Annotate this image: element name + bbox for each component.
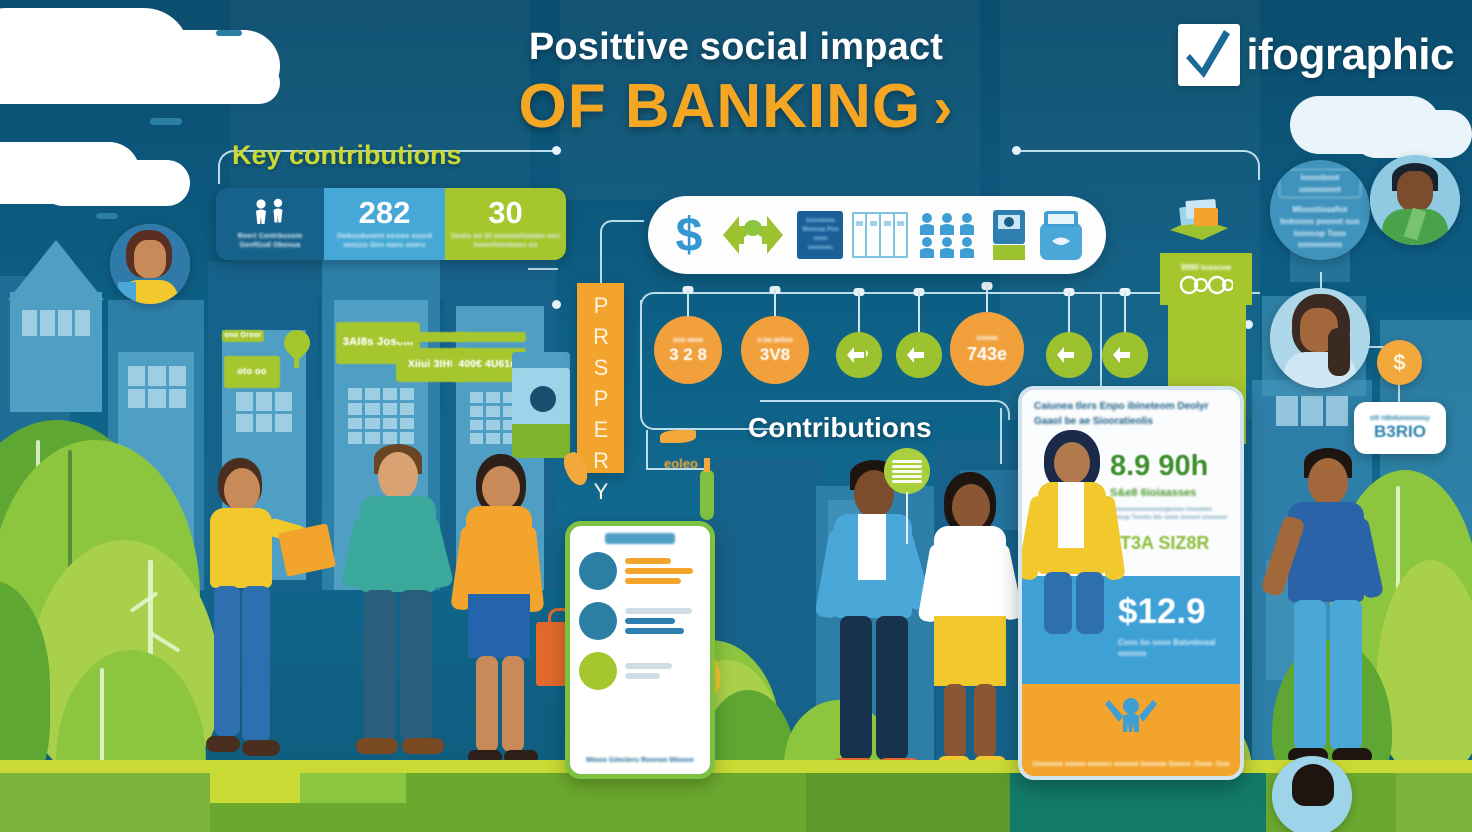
bubble-text: Ioeooboot uoooooont Mloootioaafiot boboo… — [1270, 169, 1370, 251]
dollar-coin-icon[interactable]: $ — [1377, 340, 1422, 385]
shirt — [858, 514, 886, 580]
prosperity-vertical-bar: PRSPERY — [577, 283, 624, 473]
skirt — [934, 616, 1006, 686]
connector-line — [1016, 150, 1260, 180]
exchange-hands-icon — [906, 346, 932, 364]
callout-badge[interactable]: ott rdbdueoooouy B3RIO — [1354, 402, 1446, 454]
text-lines — [625, 663, 701, 679]
svg-text:$: $ — [676, 209, 703, 261]
ground-patch — [210, 773, 300, 803]
infographic-canvas: oto oo ono Oroor 3AI8s Joscm Xiiui 3IH0 … — [0, 0, 1472, 832]
cloud — [40, 160, 190, 206]
leaf-tag-icon — [660, 430, 696, 443]
badge-stem — [687, 290, 689, 316]
ground-patch — [0, 773, 210, 832]
ground-patch — [300, 773, 406, 803]
window-grid — [348, 388, 414, 444]
money-sub-label: Coos bo sooe Batvebvaal ooooss — [1118, 638, 1232, 660]
person-illustration — [196, 450, 306, 790]
brand-name: ifographic — [1246, 30, 1454, 80]
money-stack-icon — [1168, 196, 1230, 242]
badge-value: 3V8 — [760, 346, 790, 363]
cloud-small — [216, 30, 242, 36]
ground-patch — [1010, 773, 1266, 832]
badge-stem — [1068, 292, 1070, 332]
badge-stem — [774, 290, 776, 316]
card-headline: Caiunea tlers Enpo ibineteom Deolyr Gaao… — [1034, 400, 1230, 429]
avatar-woman-teal[interactable] — [1270, 288, 1370, 388]
prosperity-label: PRSPERY — [591, 293, 609, 510]
cloud-small — [96, 213, 118, 219]
bottle-icon — [700, 470, 714, 520]
card-caption: Snooeenu Woooaa Poo uoeu aooooeu — [797, 217, 843, 253]
cloud — [0, 62, 280, 104]
badge-value: 743e — [967, 345, 1007, 363]
contributions-heading: Contributions — [748, 412, 932, 444]
card-title-bar — [605, 533, 675, 544]
ground-patch — [806, 773, 1010, 832]
bottle-neck — [704, 458, 710, 472]
stat-card-people[interactable]: Reert Contrbusom GenfGud Obosua — [216, 188, 324, 260]
bubble-tail — [906, 492, 908, 544]
orange-tag: eoleo — [664, 456, 698, 471]
badge-stem — [858, 292, 860, 332]
avatar-man-green-shirt[interactable] — [1370, 155, 1460, 245]
badge-stem — [918, 292, 920, 332]
connector-line — [646, 430, 648, 470]
ground-strip — [0, 760, 1472, 773]
cloud-small — [150, 118, 182, 125]
network-nodes-icon — [579, 552, 617, 590]
bubble-body: Mloootioaafiot bobooos poovot ouo Ioovoo… — [1280, 205, 1360, 249]
stat-card-30[interactable]: 30 Uosts oo bt oosowelsoobo oes foeenfoo… — [445, 188, 566, 260]
city-label: ono Oroor — [222, 330, 264, 342]
skirt — [468, 594, 530, 658]
bubble-text-lines — [892, 460, 922, 483]
badge-label: oso oeee — [673, 337, 703, 345]
check-mark-logo-icon — [1178, 24, 1240, 86]
connector-line — [600, 220, 644, 284]
ground-patch — [406, 773, 806, 832]
stat-caption: Reert Contrbusom GenfGud Obosua — [221, 233, 319, 251]
atm-top — [512, 352, 570, 368]
ground-patch — [210, 803, 406, 832]
atm-machine-icon[interactable] — [989, 209, 1029, 261]
window-grid — [1276, 396, 1348, 426]
city-label — [452, 332, 526, 342]
exchange-hands-icon — [1112, 346, 1138, 364]
person-illustration — [452, 452, 572, 792]
card-bottom-note: Ooooeoo ooeoo eooees ooeeoo booooo Soooo… — [1032, 760, 1230, 770]
stat-sub-label: S&e8 6ioiaasses — [1110, 487, 1230, 499]
stat-value: 282 — [359, 197, 411, 228]
avatar-man-blue-shirt[interactable] — [1272, 756, 1352, 832]
badge-circle[interactable]: o.ba aofun 3V8 — [741, 316, 809, 384]
payment-terminal-icon[interactable] — [1038, 209, 1084, 261]
key-contributions-panel: Key contributions Reert Contrbusom GenfG… — [216, 140, 566, 260]
people-group-icon[interactable] — [917, 211, 981, 259]
card-footer-text: Mlooo Gilecteru Roonoo Mloooe — [570, 756, 710, 765]
stat-note: Ooooovooooooooogoooo Ooooeeo ooloop Tooo… — [1110, 506, 1230, 523]
callout-top-line: ott rdbdueoooouy — [1370, 415, 1430, 422]
badge-label: ooooo — [976, 335, 997, 343]
badge-circle[interactable] — [1102, 332, 1148, 378]
atm-screen — [530, 386, 556, 412]
impact-summary-card[interactable]: Caiunea tlers Enpo ibineteom Deolyr Gaao… — [1018, 386, 1244, 780]
person-illustration — [1030, 430, 1122, 630]
cloud — [1352, 110, 1472, 158]
stat-value: 30 — [488, 197, 522, 228]
list-item[interactable] — [570, 552, 710, 590]
landscape-icon — [579, 602, 617, 640]
coins-pair-icon — [1179, 275, 1233, 295]
green-panel-label: 9090 losocoe — [1181, 263, 1231, 272]
list-item[interactable] — [570, 602, 710, 640]
celebration-person-icon — [1103, 694, 1159, 742]
card-bottom-section: Ooooeoo ooeoo eooees ooeeoo booooo Soooo… — [1022, 684, 1240, 780]
stat-caption: Oebusdunent oesies osurd seozzo Gen oans… — [329, 233, 440, 251]
growth-chart-icon — [579, 652, 617, 690]
card-stat-block: 8.9 90h S&e8 6ioiaasses Ooooovooooooooog… — [1110, 452, 1230, 554]
brand-logo[interactable]: ifographic — [1178, 24, 1454, 86]
money-value: $12.9 — [1118, 594, 1206, 629]
stat-green-figure: $T3A SIZ8R — [1110, 533, 1230, 554]
ground-band — [0, 760, 1472, 832]
exchange-hands-icon — [846, 346, 872, 364]
bar-chart-icon[interactable] — [852, 211, 908, 259]
speech-bubble — [884, 448, 930, 494]
window-grid — [236, 392, 292, 432]
callout-main-line: B3RIO — [1374, 422, 1426, 442]
badge-circle[interactable] — [1046, 332, 1092, 378]
text-lines — [625, 558, 701, 584]
stat-big-number: 8.9 90h — [1110, 452, 1230, 481]
badge-circle[interactable]: ooooo 743e — [950, 312, 1024, 386]
list-item[interactable] — [570, 652, 710, 690]
sky-band — [560, 0, 980, 200]
badge-label: o.ba aofun — [757, 337, 792, 345]
exchange-hands-icon — [1056, 346, 1082, 364]
green-icon-panel: 9090 losocoe — [1160, 253, 1252, 305]
badge-circle[interactable]: oso oeee 3 2 8 — [654, 316, 722, 384]
services-icon-pill: $ Snooeenu Woooaa Poo uoeu aooooeu — [648, 196, 1106, 274]
key-stats-bar: Reert Contrbusom GenfGud Obosua 282 Oebu… — [216, 188, 566, 260]
badge-stem — [986, 286, 988, 312]
text-lines — [625, 608, 701, 634]
avatar-woman-yellow[interactable] — [110, 224, 190, 304]
key-contributions-heading: Key contributions — [232, 140, 566, 171]
person-illustration — [1278, 446, 1398, 796]
connector-dot — [1012, 146, 1021, 155]
connector-dot — [552, 300, 561, 309]
window-grid — [22, 310, 90, 336]
badge-stem — [1124, 292, 1126, 332]
blue-card-icon[interactable]: Snooeenu Woooaa Poo uoeu aooooeu — [797, 211, 843, 259]
stat-caption: Uosts oo bt oosowelsoobo oes foeenfoonbo… — [450, 233, 561, 251]
badge-value: 3 2 8 — [669, 346, 707, 363]
stat-card-282[interactable]: 282 Oebusdunent oesies osurd seozzo Gen … — [324, 188, 445, 260]
ground-patch — [1396, 773, 1472, 832]
connector-line — [528, 268, 558, 270]
info-bubble-circle[interactable]: Ioeooboot uoooooont Mloootioaafiot boboo… — [1270, 160, 1370, 260]
bubble-headline: Ioeooboot uoooooont — [1279, 169, 1361, 198]
plant-stem — [294, 346, 299, 368]
badge-circle[interactable] — [896, 332, 942, 378]
mobile-feature-card[interactable]: Mlooo Gilecteru Roonoo Mloooe — [565, 521, 715, 779]
window-grid — [128, 366, 186, 408]
badge-circle[interactable] — [836, 332, 882, 378]
exchange-hands-icon[interactable] — [717, 212, 789, 258]
people-pair-icon — [250, 198, 290, 228]
connector-line — [1000, 408, 1002, 464]
dollar-sign-icon[interactable]: $ — [670, 209, 708, 261]
city-label: oto oo — [224, 356, 280, 388]
